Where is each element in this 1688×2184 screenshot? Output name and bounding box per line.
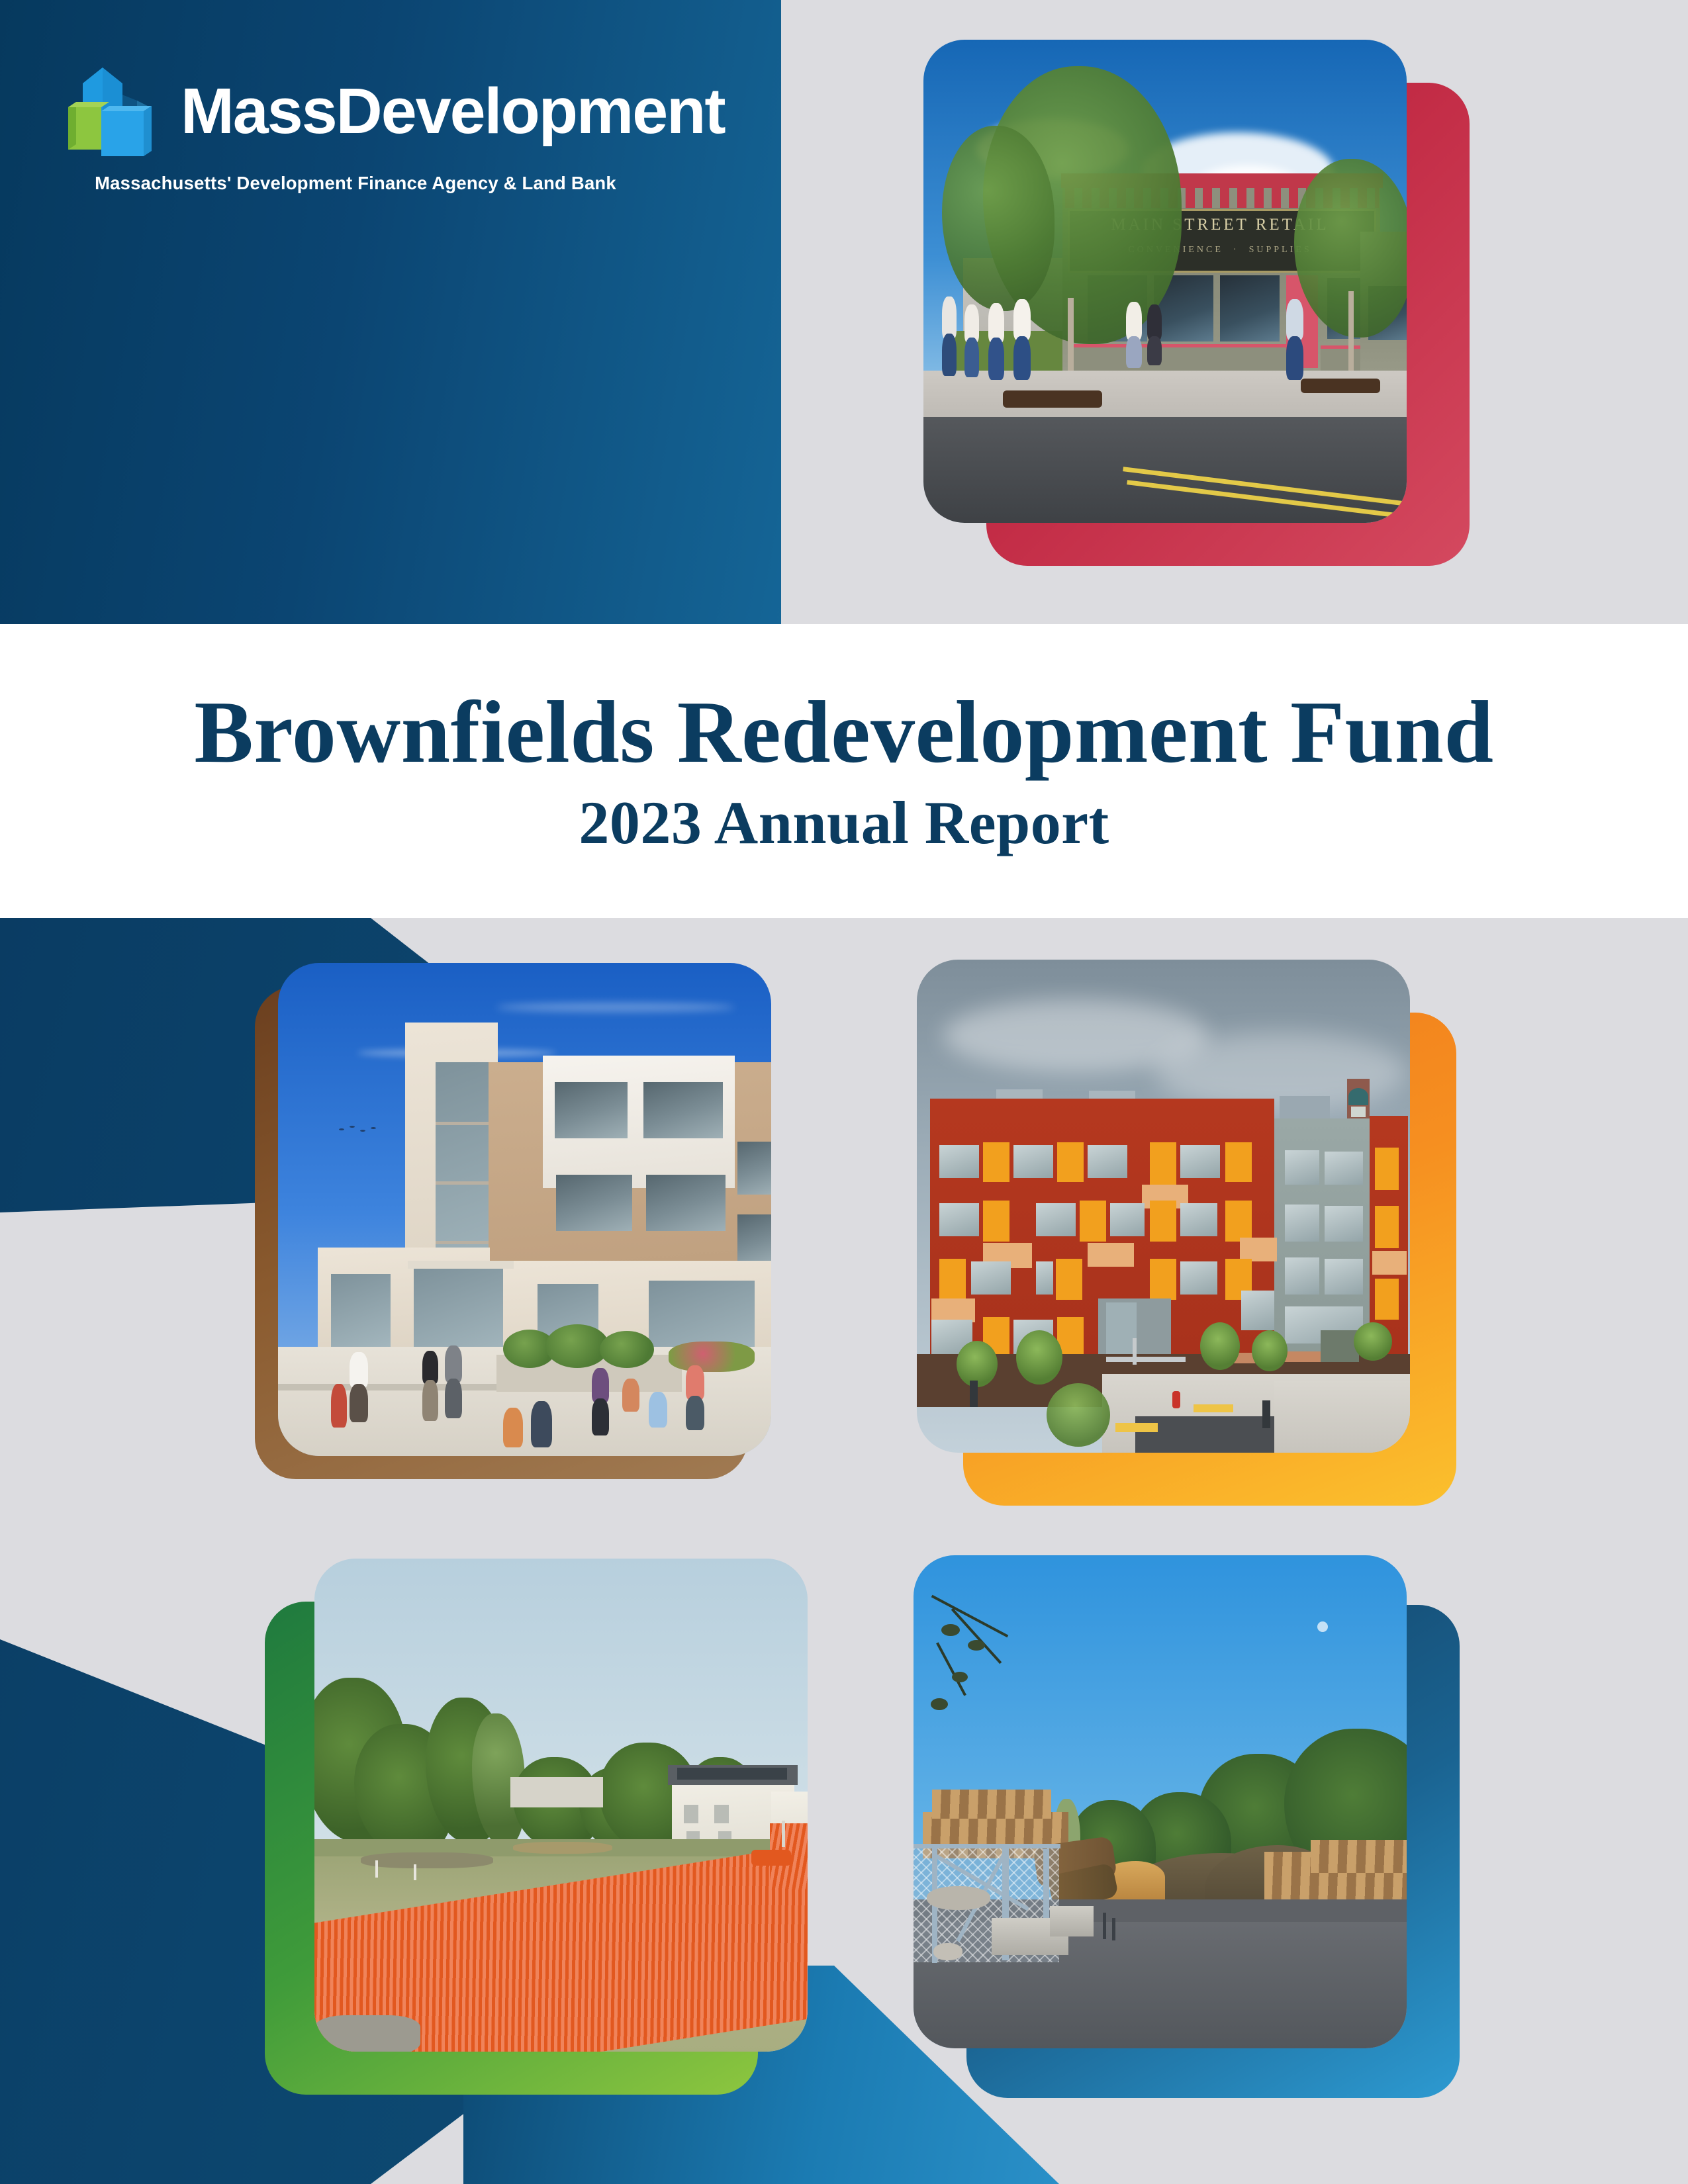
photo-card-main-street-retail: MAIN STREET RETAIL CONVENIENCE · SUPPLIE… bbox=[923, 40, 1407, 523]
photo-mixed-use-residential bbox=[278, 963, 771, 1456]
photo-card-mixed-use-residential bbox=[278, 963, 771, 1456]
photo-card-vacant-remediation-lot bbox=[314, 1559, 808, 2052]
gray-right-margin bbox=[1496, 918, 1688, 2184]
photo-main-street-retail: MAIN STREET RETAIL CONVENIENCE · SUPPLIE… bbox=[923, 40, 1407, 523]
cover-title-band: Brownfields Redevelopment Fund 2023 Annu… bbox=[0, 624, 1688, 918]
photo-red-apartment-building bbox=[917, 960, 1410, 1453]
brand-tagline: Massachusetts' Development Finance Agenc… bbox=[64, 173, 647, 194]
cover-header: MassDevelopment Massachusetts' Developme… bbox=[0, 0, 1688, 624]
photo-card-log-yard-site bbox=[914, 1555, 1407, 2048]
photo-log-yard-site bbox=[914, 1555, 1407, 2048]
report-cover-page: MassDevelopment Massachusetts' Developme… bbox=[0, 0, 1688, 2184]
page-subtitle: 2023 Annual Report bbox=[579, 790, 1109, 856]
brand-wordmark: MassDevelopment bbox=[181, 79, 725, 143]
page-title: Brownfields Redevelopment Fund bbox=[194, 686, 1493, 779]
photo-vacant-remediation-lot bbox=[314, 1559, 808, 2052]
photo-card-red-apartment-building bbox=[917, 960, 1410, 1453]
brand-logo-lockup: MassDevelopment Massachusetts' Developme… bbox=[63, 60, 725, 194]
massdevelopment-building-logo-icon bbox=[63, 60, 162, 162]
